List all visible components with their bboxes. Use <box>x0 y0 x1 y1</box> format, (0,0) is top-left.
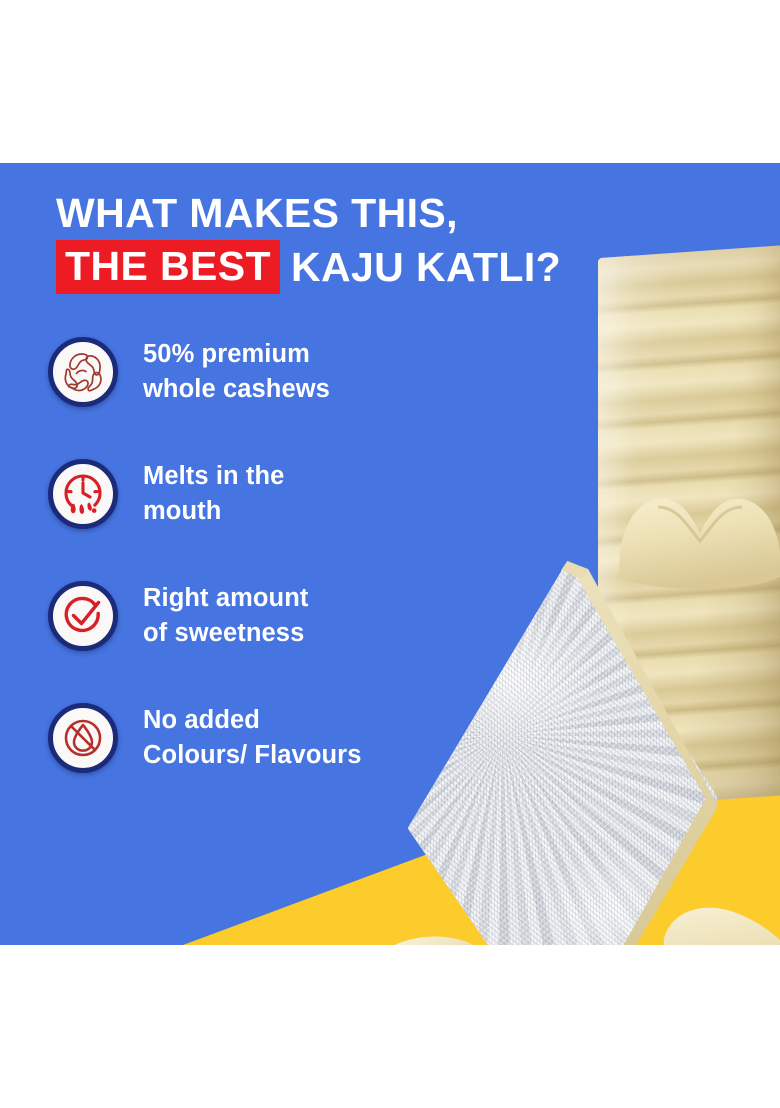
blue-panel: WHAT MAKES THIS, THE BEST KAJU KATLI? <box>0 163 780 945</box>
feature-item-sweetness: Right amount of sweetness <box>48 575 468 680</box>
feature-label: No added Colours/ Flavours <box>143 697 362 773</box>
headline-line-2: THE BEST KAJU KATLI? <box>56 240 716 294</box>
no-droplet-icon <box>60 715 106 761</box>
feature-label: Right amount of sweetness <box>143 575 309 651</box>
headline-highlight: THE BEST <box>56 240 280 294</box>
feature-badge <box>48 581 118 651</box>
feature-label-line-2: of sweetness <box>143 616 309 651</box>
product-banner: WHAT MAKES THIS, THE BEST KAJU KATLI? <box>0 0 780 1108</box>
feature-badge <box>48 459 118 529</box>
feature-label-line-2: Colours/ Flavours <box>143 738 362 773</box>
feature-badge <box>48 703 118 773</box>
feature-label-line-1: No added <box>143 703 362 738</box>
feature-label-line-1: Right amount <box>143 581 309 616</box>
feature-label-line-1: 50% premium <box>143 337 330 372</box>
headline-line-1: WHAT MAKES THIS, <box>56 187 716 239</box>
headline-tail: KAJU KATLI? <box>291 244 561 290</box>
cashew-nut-on-stack-icon <box>614 493 780 589</box>
feature-list: 50% premium whole cashews <box>48 331 468 819</box>
check-circle-icon <box>60 593 106 639</box>
katli-stack <box>598 244 780 808</box>
feature-label-line-2: mouth <box>143 494 284 529</box>
katli-stack-shading <box>598 244 780 808</box>
cashew-cluster-icon <box>59 348 107 396</box>
feature-label-line-2: whole cashews <box>143 372 330 407</box>
feature-label: Melts in the mouth <box>143 453 284 529</box>
melting-clock-icon <box>60 471 106 517</box>
feature-item-melts: Melts in the mouth <box>48 453 468 558</box>
feature-item-cashews: 50% premium whole cashews <box>48 331 468 436</box>
feature-badge <box>48 337 118 407</box>
feature-item-no-additives: No added Colours/ Flavours <box>48 697 468 802</box>
feature-label-line-1: Melts in the <box>143 459 284 494</box>
headline: WHAT MAKES THIS, THE BEST KAJU KATLI? <box>56 187 716 294</box>
feature-label: 50% premium whole cashews <box>143 331 330 407</box>
